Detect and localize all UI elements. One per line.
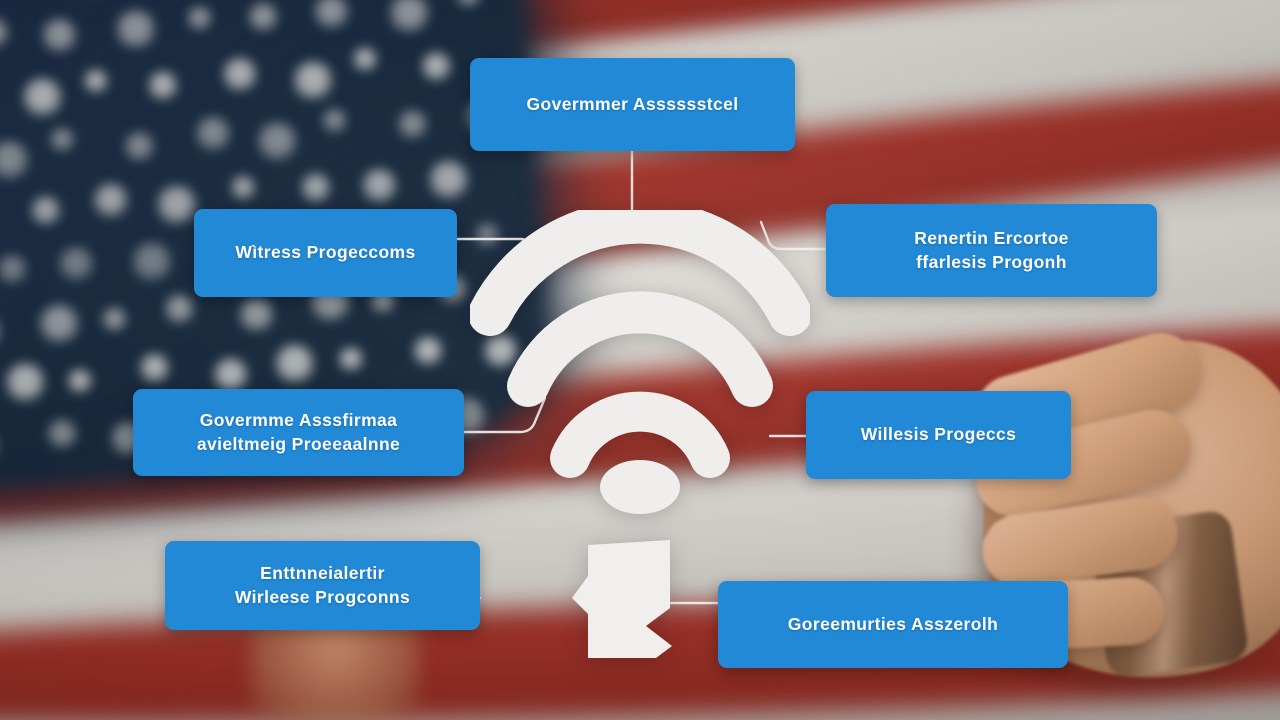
node-box-right-lower[interactable]: Goreemurties Asszerolh xyxy=(718,581,1068,668)
node-label-left-lower: Enttnneialertir Wirleese Progconns xyxy=(235,562,410,609)
node-box-right-upper[interactable]: Renertin Ercortoe ffarlesis Progonh xyxy=(826,204,1157,297)
wifi-arc-middle xyxy=(528,312,752,386)
node-label-right-middle: Willesis Progeccs xyxy=(861,423,1016,446)
node-label-top: Govermmer Asssssstcel xyxy=(526,93,738,116)
infographic-canvas: Govermmer Asssssstcel Wìtress Progeccom… xyxy=(0,0,1280,720)
node-label-left-upper: Wìtress Progeccoms xyxy=(235,241,415,264)
node-box-left-lower[interactable]: Enttnneialertir Wirleese Progconns xyxy=(165,541,480,630)
wifi-arc-inner xyxy=(570,412,710,458)
node-label-left-middle: Govermme Asssfirmaa avieltmeig Proeeaaln… xyxy=(197,409,400,456)
node-label-right-upper: Renertin Ercortoe ffarlesis Progonh xyxy=(914,227,1069,274)
node-box-left-upper[interactable]: Wìtress Progeccoms xyxy=(194,209,457,297)
node-box-right-middle[interactable]: Willesis Progeccs xyxy=(806,391,1071,479)
wifi-base-shape xyxy=(572,540,672,658)
node-box-left-middle[interactable]: Govermme Asssfirmaa avieltmeig Proeeaaln… xyxy=(133,389,464,476)
wifi-dot xyxy=(600,460,680,514)
node-box-top[interactable]: Govermmer Asssssstcel xyxy=(470,58,795,151)
node-label-right-lower: Goreemurties Asszerolh xyxy=(788,613,998,636)
